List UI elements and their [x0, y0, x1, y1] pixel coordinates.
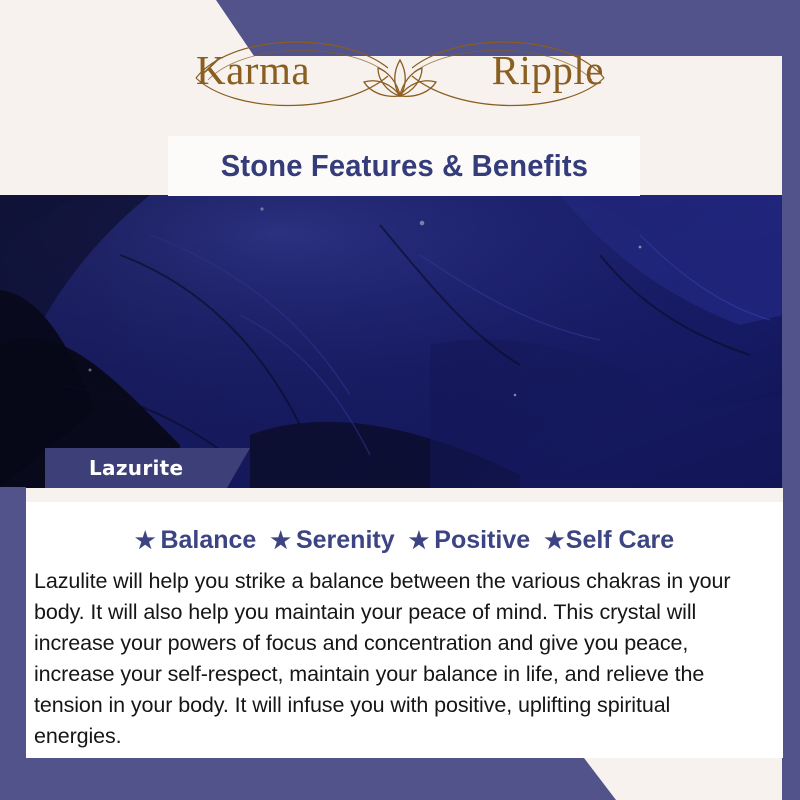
- brand-logo: Karma Ripple: [0, 22, 800, 122]
- stone-info-card: Karma Ripple Stone Features & Benefits: [0, 0, 800, 800]
- keyword-list: ★ Balance ★ Serenity ★ Positive ★ Self C…: [26, 526, 783, 555]
- star-icon: ★: [135, 529, 156, 552]
- star-icon: ★: [544, 529, 565, 552]
- stone-photo-svg: [0, 195, 783, 488]
- stone-description: Lazulite will help you strike a balance …: [34, 566, 752, 752]
- keyword-label: Serenity: [296, 526, 395, 555]
- keyword-label: Balance: [160, 526, 256, 555]
- keyword-label: Positive: [434, 526, 530, 555]
- star-icon: ★: [270, 529, 291, 552]
- keyword-label: Self Care: [566, 526, 674, 555]
- stone-name: Lazurite: [89, 456, 183, 480]
- title-banner: Stone Features & Benefits: [168, 136, 640, 196]
- stone-name-ribbon: Lazurite: [45, 448, 250, 488]
- brand-word-left: Karma: [196, 50, 310, 95]
- keyword-positive: ★ Positive: [409, 526, 531, 555]
- keyword-balance: ★ Balance: [135, 526, 257, 555]
- keyword-self-care: ★ Self Care: [544, 526, 674, 555]
- page-title: Stone Features & Benefits: [220, 148, 587, 184]
- left-navy-border: [0, 487, 26, 800]
- bottom-navy-border: [0, 758, 800, 800]
- brand-word-right: Ripple: [492, 50, 604, 95]
- keyword-serenity: ★ Serenity: [270, 526, 394, 555]
- stone-photo: [0, 195, 783, 488]
- content-top-strip: [26, 488, 783, 502]
- star-icon: ★: [409, 529, 430, 552]
